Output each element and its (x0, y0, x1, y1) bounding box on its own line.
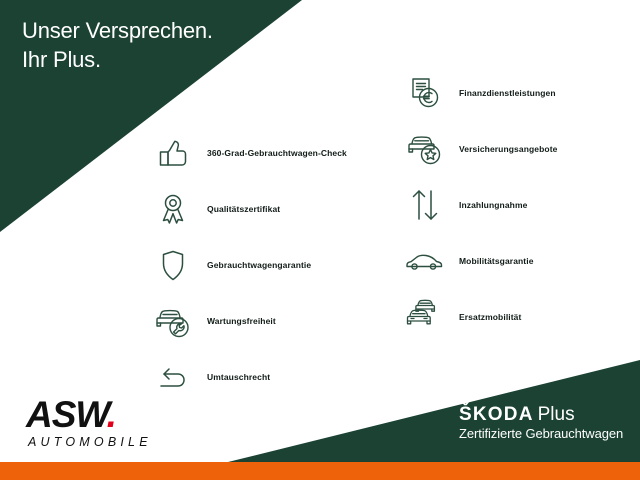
two-cars-icon (398, 290, 452, 344)
feature-label: Inzahlungnahme (459, 200, 527, 210)
feature-label: Mobilitätsgarantie (459, 256, 534, 266)
car-wrench-icon (146, 294, 200, 348)
feature-item-replacement: Ersatzmobilität (398, 290, 638, 344)
document-euro-icon (398, 66, 452, 120)
feature-label: Ersatzmobilität (459, 312, 521, 322)
asw-wordmark: ASW. (26, 396, 186, 434)
feature-label: Gebrauchtwagengarantie (207, 260, 311, 270)
skoda-brand-wordmark: ŠKODA (459, 404, 534, 425)
headline-line-2: Ihr Plus. (22, 45, 352, 74)
asw-subtitle: AUTOMOBILE (28, 435, 186, 449)
feature-label: Finanzdienstleistungen (459, 88, 556, 98)
thumbs-up-icon (146, 126, 200, 180)
skoda-plus-word: Plus (538, 404, 575, 425)
feature-item-tradein: Inzahlungnahme (398, 178, 638, 232)
car-star-shield-icon (398, 122, 452, 176)
car-side-icon (398, 234, 452, 288)
feature-list-right: Finanzdienstleistungen Versicherungsange… (398, 66, 638, 346)
feature-item-financing: Finanzdienstleistungen (398, 66, 638, 120)
headline: Unser Versprechen. Ihr Plus. (22, 16, 352, 74)
skoda-plus-logo: ŠKODAPlus Zertifizierte Gebrauchtwagen (459, 404, 634, 441)
bottom-orange-bar (0, 462, 640, 480)
feature-item-mobility: Mobilitätsgarantie (398, 234, 638, 288)
feature-item-check: 360-Grad-Gebrauchtwagen-Check (146, 126, 386, 180)
asw-dealer-logo: ASW. AUTOMOBILE (26, 396, 186, 449)
feature-item-insurance: Versicherungsangebote (398, 122, 638, 176)
feature-label: Qualitätszertifikat (207, 204, 280, 214)
feature-label: Umtauschrecht (207, 372, 270, 382)
feature-label: 360-Grad-Gebrauchtwagen-Check (207, 148, 347, 158)
feature-label: Wartungsfreiheit (207, 316, 276, 326)
up-down-arrows-icon (398, 178, 452, 232)
award-rosette-icon (146, 182, 200, 236)
feature-label: Versicherungsangebote (459, 144, 557, 154)
promo-banner: Unser Versprechen. Ihr Plus. 360-Grad-Ge… (0, 0, 640, 480)
skoda-tagline: Zertifizierte Gebrauchtwagen (459, 426, 634, 441)
feature-item-warranty: Gebrauchtwagengarantie (146, 238, 386, 292)
feature-item-maintenance: Wartungsfreiheit (146, 294, 386, 348)
asw-red-dot: . (107, 394, 116, 435)
asw-wordmark-text: ASW (26, 394, 107, 435)
headline-line-1: Unser Versprechen. (22, 16, 352, 45)
feature-item-certificate: Qualitätszertifikat (146, 182, 386, 236)
shield-icon (146, 238, 200, 292)
feature-list-left: 360-Grad-Gebrauchtwagen-Check Qualitätsz… (146, 126, 386, 406)
skoda-logo-line-1: ŠKODAPlus (459, 404, 634, 425)
